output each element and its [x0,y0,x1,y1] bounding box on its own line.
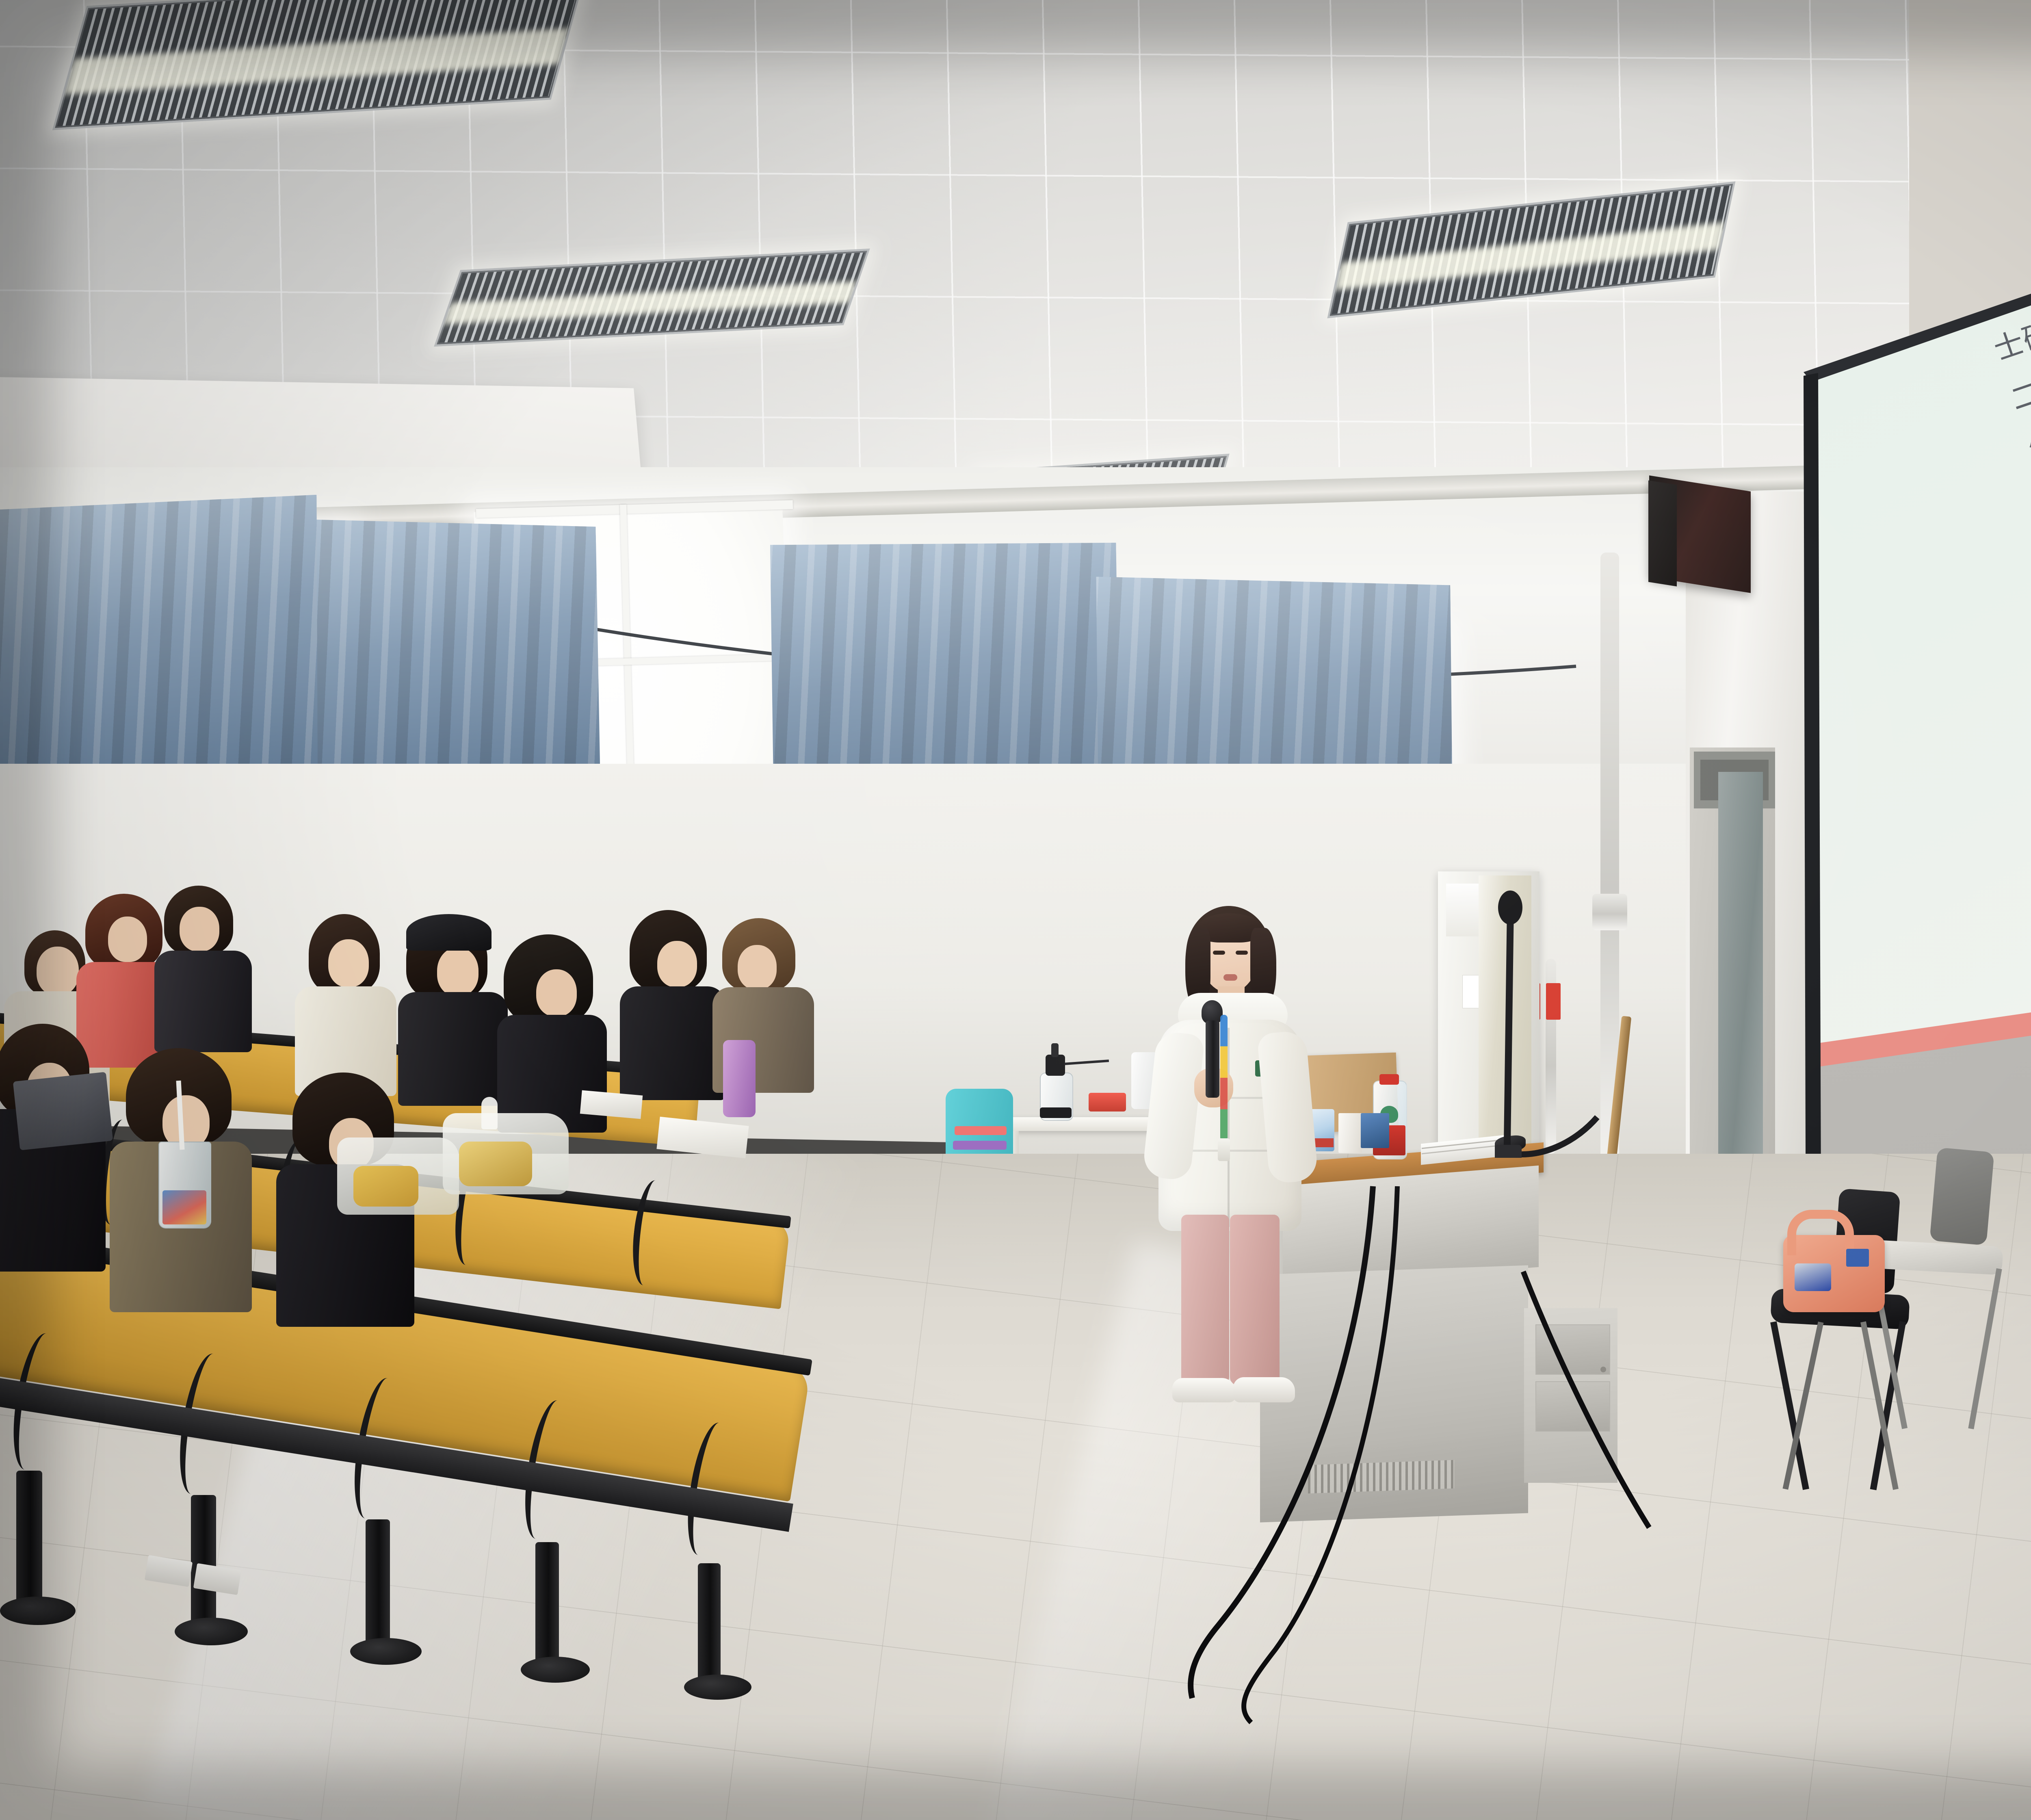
gooseneck-microphone [1438,873,1609,1158]
jacket-zipper [1228,1028,1230,1227]
seat-foot [0,1597,76,1625]
slide-title: 国家政策 [1896,61,2031,106]
chair-leg [1968,1268,2002,1429]
bagged-food [459,1142,532,1186]
slide-line: 纳的学费实行一次性补偿或获得的国家助学贷款实行代偿。学费补偿、国 [1931,61,2031,203]
seat-foot [521,1657,590,1683]
seat-post [191,1495,216,1625]
spray-bottle-pump [1046,1055,1065,1076]
slide-tab-banner [1787,61,1899,119]
seat-post [16,1471,42,1605]
chair-backrest [1929,1147,1994,1245]
classroom-door[interactable] [1718,772,1763,1162]
presenter-eye [1213,951,1225,955]
presenter-trouser-left [1181,1215,1229,1385]
baseball-cap [406,914,492,951]
slide-tab-label: 入伍有政策 [1788,61,1904,143]
tote-bag-tag [1846,1249,1869,1267]
tablet-device[interactable] [13,1072,113,1150]
presenter-trouser-right [1230,1215,1280,1385]
blue-box [1361,1113,1389,1148]
bag-contents [1795,1263,1831,1291]
slide-line: 2.普通高校应届毕业生应征入伍服义务兵役退役后3年内参加全国硕 [1970,61,2031,318]
spray-bottle-handle [1051,1043,1059,1057]
cup-label [162,1190,206,1224]
slide-line: 士研究生招生考试，初试总分加10分，同等条件下优先录取；在部队荣立 [1988,61,2031,368]
wall-speaker-side [1648,480,1677,586]
bottle-cap [1379,1074,1399,1085]
seat-post [698,1563,721,1681]
tote-bag-handle [1787,1210,1854,1255]
chair-seat [1868,1239,2003,1275]
presenter-mouth [1223,974,1237,981]
seat-foot [684,1675,751,1700]
seat-foot [175,1618,248,1645]
spray-bottle-base [1040,1107,1072,1118]
slide-line: 生。 [2021,409,2031,468]
presenter-eye [1236,951,1248,955]
presenter [1133,906,1320,1406]
seat-post [366,1519,390,1645]
slide-line: 1.国家对应征入伍服义务兵役的高校学生，在入伍时对其在校期间缴 [1914,61,2031,153]
presenter-shoe-left [1172,1378,1236,1402]
slide-line-highlight: 家助学贷款代偿标准，本专科学生每人每年最高不超过16000元。 [1948,61,2031,253]
lanyard-tassel [1218,1138,1230,1161]
microphone-body [1206,1020,1219,1098]
seat-foot [350,1638,422,1665]
seat-post [535,1542,559,1664]
bag-knot [481,1097,498,1129]
presenter-shoe-right [1233,1377,1295,1402]
lecture-hall-photo: 入伍有政策 国家政策 1.国家对应征入伍服义务兵役的高校学生，在入伍时对其在校期… [0,0,2031,1820]
bagged-food [353,1166,418,1207]
lanyard [1220,1015,1228,1141]
red-tray [1089,1093,1126,1111]
paper-cup [1338,1113,1362,1153]
water-bottle [723,1040,756,1117]
